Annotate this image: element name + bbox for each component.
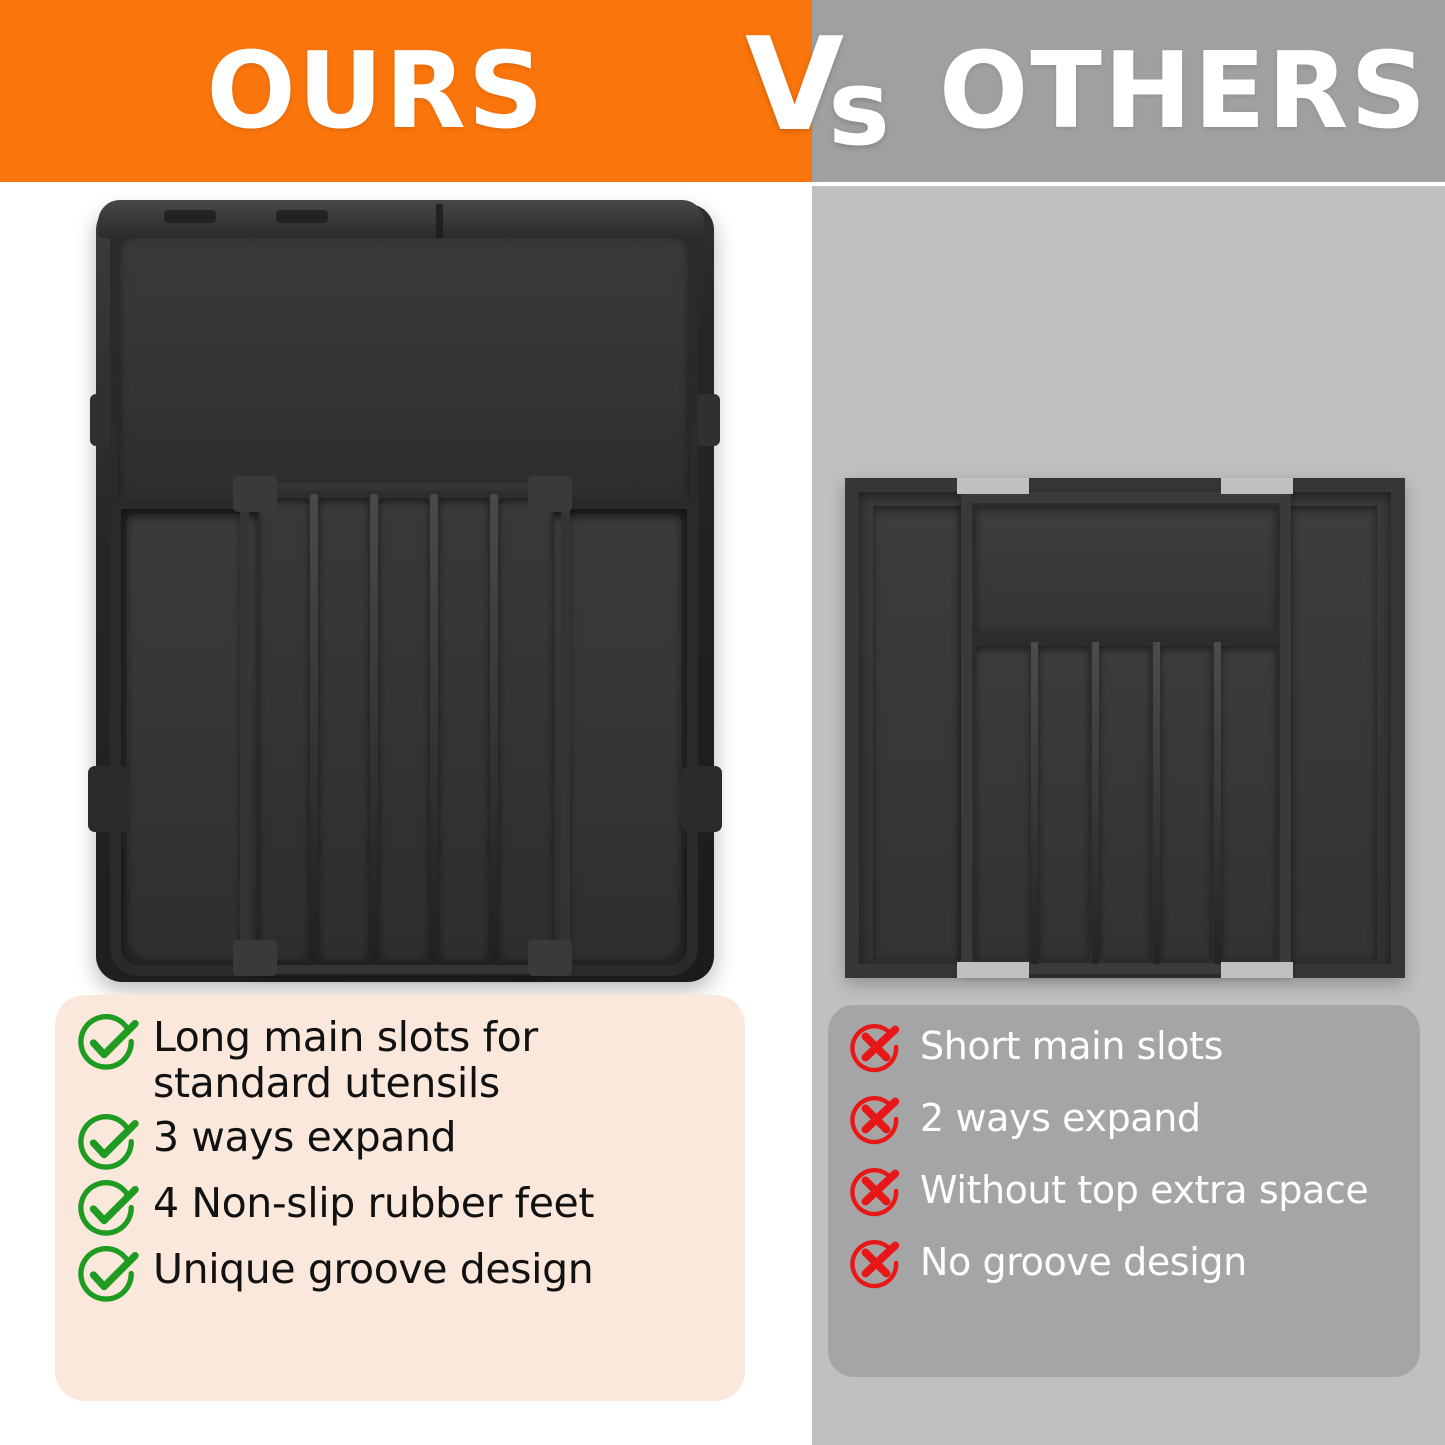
ours-sliding-insert-frame — [240, 482, 570, 974]
ours-insert-tab-bottom-left — [233, 940, 277, 976]
ours-feature-card: Long main slots for standard utensils 3 … — [55, 995, 745, 1401]
ours-insert-tab-top-right — [528, 476, 572, 512]
others-main-slot-1 — [975, 646, 1031, 960]
ours-top-rim — [98, 200, 704, 238]
others-side-channel-left — [873, 506, 961, 960]
list-item: Short main slots — [848, 1019, 1402, 1075]
others-main-slot-2 — [1038, 646, 1090, 960]
others-slot-row — [975, 646, 1277, 960]
list-item-label: No groove design — [920, 1235, 1247, 1284]
list-item: Without top extra space — [848, 1163, 1402, 1219]
list-item: No groove design — [848, 1235, 1402, 1291]
vs-letter-s: s — [828, 56, 890, 160]
vs-badge: V s — [745, 22, 890, 160]
ours-rubber-foot-bottom-right — [682, 766, 722, 832]
list-item: Unique groove design — [77, 1243, 725, 1305]
comparison-header: OURS V s OTHERS — [0, 0, 1445, 186]
list-item-label: 3 ways expand — [153, 1111, 456, 1161]
others-main-slot-4 — [1160, 646, 1212, 960]
others-notch-top-left — [957, 478, 1029, 494]
x-circle-icon — [848, 1019, 904, 1075]
x-circle-icon — [848, 1091, 904, 1147]
ours-insert-tab-bottom-right — [528, 940, 572, 976]
others-divider-3 — [1153, 642, 1160, 964]
others-divider-4 — [1214, 642, 1221, 964]
comparison-stage: OURS V s OTHERS — [0, 0, 1445, 1445]
others-divider-1 — [1031, 642, 1038, 964]
list-item-label: Unique groove design — [153, 1243, 593, 1293]
ours-upper-tray-floor — [118, 232, 690, 512]
header-others-title: OTHERS — [812, 0, 1445, 182]
ours-rubber-foot-bottom-left — [88, 766, 128, 832]
list-item-label: Short main slots — [920, 1019, 1223, 1068]
others-notch-bottom-left — [957, 962, 1029, 978]
list-item: 3 ways expand — [77, 1111, 725, 1173]
others-main-slot-5 — [1221, 646, 1277, 960]
others-product-image — [845, 478, 1405, 988]
list-item: 2 ways expand — [848, 1091, 1402, 1147]
check-circle-icon — [77, 1011, 139, 1073]
list-item-label: Long main slots for standard utensils — [153, 1011, 725, 1107]
ours-rim-notch-1 — [164, 210, 216, 223]
others-side-channel-right — [1289, 506, 1377, 960]
list-item: Long main slots for standard utensils — [77, 1011, 725, 1107]
check-circle-icon — [77, 1243, 139, 1305]
ours-insert-tab-top-left — [233, 476, 277, 512]
list-item-label: 2 ways expand — [920, 1091, 1201, 1140]
header-ours-title: OURS — [0, 0, 812, 182]
others-divider-2 — [1092, 642, 1099, 964]
x-circle-icon — [848, 1163, 904, 1219]
others-notch-top-right — [1221, 478, 1293, 494]
x-circle-icon — [848, 1235, 904, 1291]
check-circle-icon — [77, 1111, 139, 1173]
others-main-slot-3 — [1099, 646, 1151, 960]
check-circle-icon — [77, 1177, 139, 1239]
list-item-label: 4 Non-slip rubber feet — [153, 1177, 594, 1227]
ours-side-slot-left — [126, 514, 258, 960]
ours-rim-notch-2 — [276, 210, 328, 223]
ours-rim-seam — [436, 204, 443, 238]
others-short-upper-compartment — [975, 506, 1277, 631]
list-item: 4 Non-slip rubber feet — [77, 1177, 725, 1239]
others-feature-card: Short main slots 2 ways expand Witho — [828, 1005, 1420, 1377]
list-item-label: Without top extra space — [920, 1163, 1368, 1212]
ours-product-image — [88, 198, 722, 988]
others-notch-bottom-right — [1221, 962, 1293, 978]
